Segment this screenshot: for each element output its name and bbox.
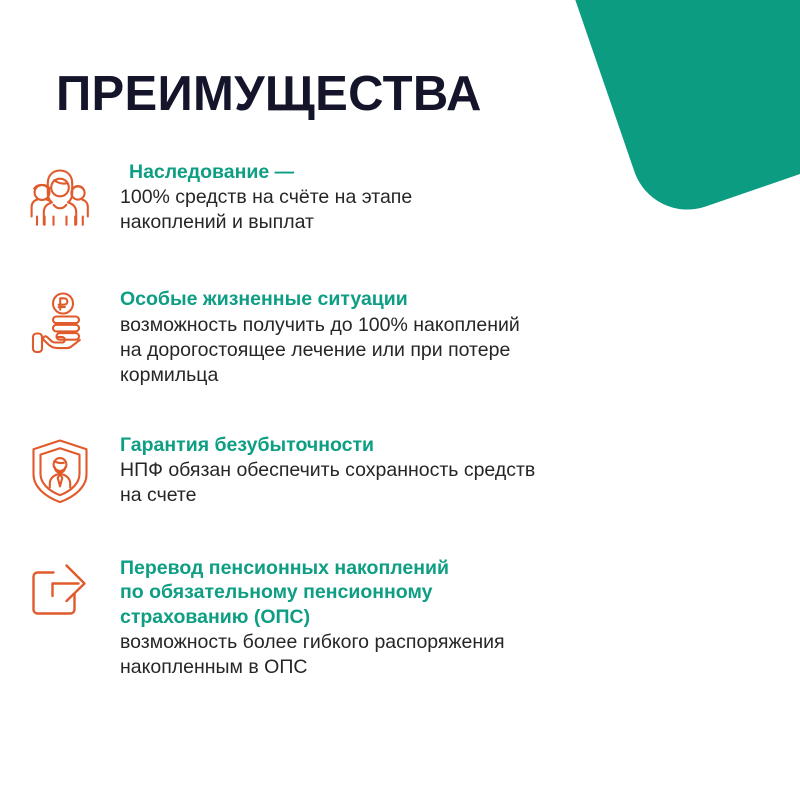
benefit-heading: Наследование —	[120, 160, 690, 184]
benefit-item: Перевод пенсионных накоплений по обязате…	[0, 556, 800, 680]
benefit-text: Особые жизненные ситуации возможность по…	[120, 287, 800, 387]
slide-canvas: ПРЕИМУЩЕСТВА	[0, 0, 800, 800]
benefit-item: Гарантия безубыточности НПФ обязан обесп…	[0, 433, 800, 508]
hand-holding-ruble-coins-icon	[0, 287, 120, 359]
benefit-heading: Особые жизненные ситуации	[120, 287, 690, 311]
benefit-body: возможность получить до 100% накоплений …	[120, 313, 690, 388]
benefit-body: НПФ обязан обеспечить сохранность средст…	[120, 458, 690, 508]
page-title: ПРЕИМУЩЕСТВА	[56, 69, 482, 120]
benefit-heading: Гарантия безубыточности	[120, 433, 690, 457]
benefit-item: Особые жизненные ситуации возможность по…	[0, 287, 800, 387]
benefit-item: Наследование — 100% средств на счёте на …	[0, 160, 800, 235]
export-arrow-icon	[0, 556, 120, 618]
benefit-text: Перевод пенсионных накоплений по обязате…	[120, 556, 800, 680]
benefit-body: возможность более гибкого распоряжения н…	[120, 630, 690, 680]
family-group-icon	[0, 160, 120, 226]
benefit-text: Наследование — 100% средств на счёте на …	[120, 160, 800, 235]
benefit-body: 100% средств на счёте на этапе накоплени…	[120, 185, 690, 235]
benefit-text: Гарантия безубыточности НПФ обязан обесп…	[120, 433, 800, 508]
benefits-list: Наследование — 100% средств на счёте на …	[0, 160, 800, 680]
benefit-heading: Перевод пенсионных накоплений по обязате…	[120, 556, 690, 629]
shield-person-icon	[0, 433, 120, 505]
